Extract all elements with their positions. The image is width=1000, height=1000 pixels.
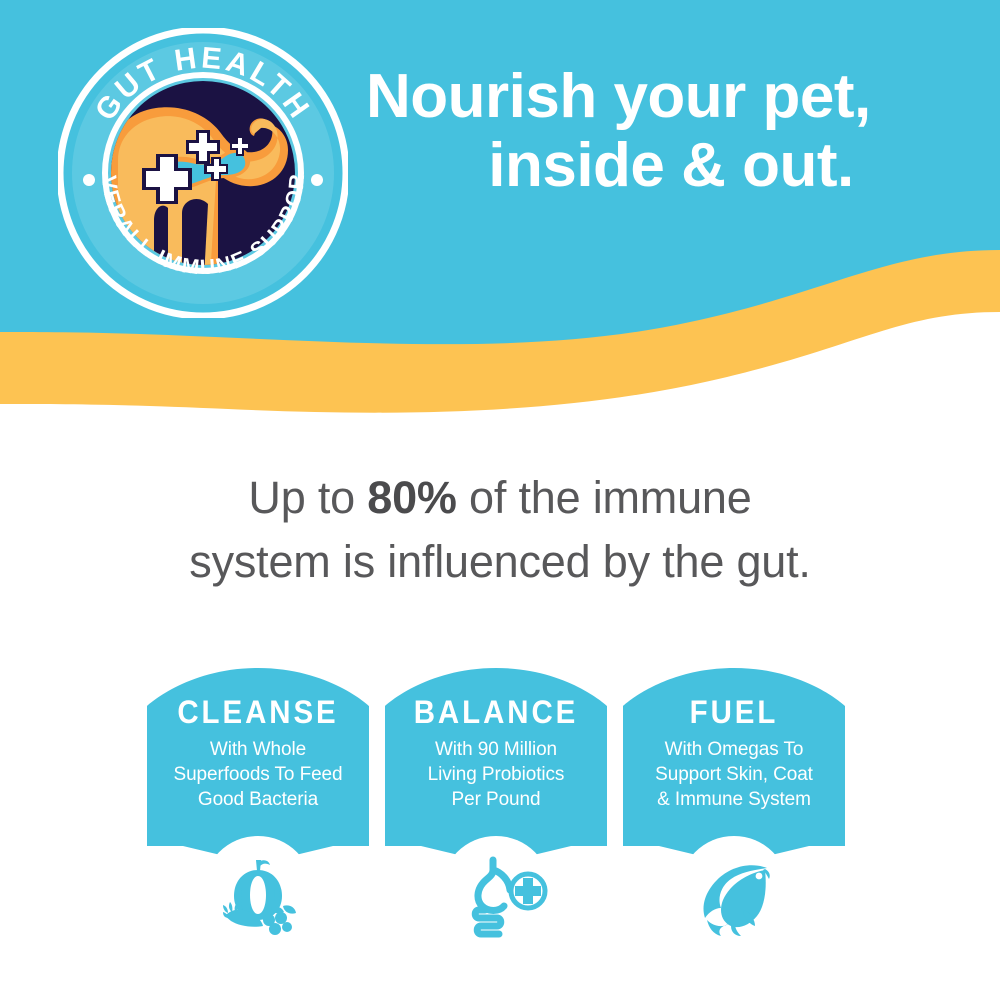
benefit-cards: CLEANSE With Whole Superfoods To Feed Go… <box>0 668 1000 968</box>
card-desc-line-2: Support Skin, Coat <box>623 762 845 787</box>
card-title: CLEANSE <box>156 696 360 728</box>
stat-statement: Up to 80% of the immune system is influe… <box>100 466 900 594</box>
benefit-card-cleanse[interactable]: CLEANSE With Whole Superfoods To Feed Go… <box>147 668 369 908</box>
card-text-block: FUEL With Omegas To Support Skin, Coat &… <box>623 668 845 812</box>
card-desc-line-1: With Omegas To <box>623 737 845 762</box>
card-desc-line-2: Living Probiotics <box>385 762 607 787</box>
infographic-poster: GUT HEALTH OVERALL IMMUNE SUPPORT Nouris… <box>0 0 1000 1000</box>
pumpkin-carrot-berries-icon <box>203 836 313 946</box>
stomach-intestine-plus-icon <box>441 836 551 946</box>
headline-line-2: inside & out. <box>366 131 986 200</box>
leaping-fish-icon <box>679 836 789 946</box>
card-icon-wrap <box>441 836 551 946</box>
card-text-block: BALANCE With 90 Million Living Probiotic… <box>385 668 607 812</box>
stat-prefix: Up to <box>248 472 367 523</box>
plus-badge <box>515 878 541 904</box>
hero-headline: Nourish your pet, inside & out. <box>366 62 986 201</box>
headline-line-1: Nourish your pet, <box>366 62 986 131</box>
card-title: FUEL <box>632 696 836 728</box>
gut-health-badge: GUT HEALTH OVERALL IMMUNE SUPPORT <box>58 28 348 318</box>
card-description: With Whole Superfoods To Feed Good Bacte… <box>147 737 369 812</box>
benefit-card-fuel[interactable]: FUEL With Omegas To Support Skin, Coat &… <box>623 668 845 908</box>
card-title: BALANCE <box>394 696 598 728</box>
stat-highlight: 80% <box>367 472 456 523</box>
card-desc-line-1: With Whole <box>147 737 369 762</box>
card-desc-line-3: Good Bacteria <box>147 787 369 812</box>
card-text-block: CLEANSE With Whole Superfoods To Feed Go… <box>147 668 369 812</box>
card-description: With Omegas To Support Skin, Coat & Immu… <box>623 737 845 812</box>
card-icon-wrap <box>679 836 789 946</box>
badge-dot-right <box>311 174 323 186</box>
stat-line-1: Up to 80% of the immune <box>100 466 900 530</box>
card-desc-line-3: & Immune System <box>623 787 845 812</box>
badge-dot-left <box>83 174 95 186</box>
card-description: With 90 Million Living Probiotics Per Po… <box>385 737 607 812</box>
stat-line-2: system is influenced by the gut. <box>100 530 900 594</box>
card-desc-line-3: Per Pound <box>385 787 607 812</box>
benefit-card-balance[interactable]: BALANCE With 90 Million Living Probiotic… <box>385 668 607 908</box>
card-desc-line-1: With 90 Million <box>385 737 607 762</box>
card-desc-line-2: Superfoods To Feed <box>147 762 369 787</box>
stat-middle: of the immune <box>457 472 752 523</box>
card-icon-wrap <box>203 836 313 946</box>
